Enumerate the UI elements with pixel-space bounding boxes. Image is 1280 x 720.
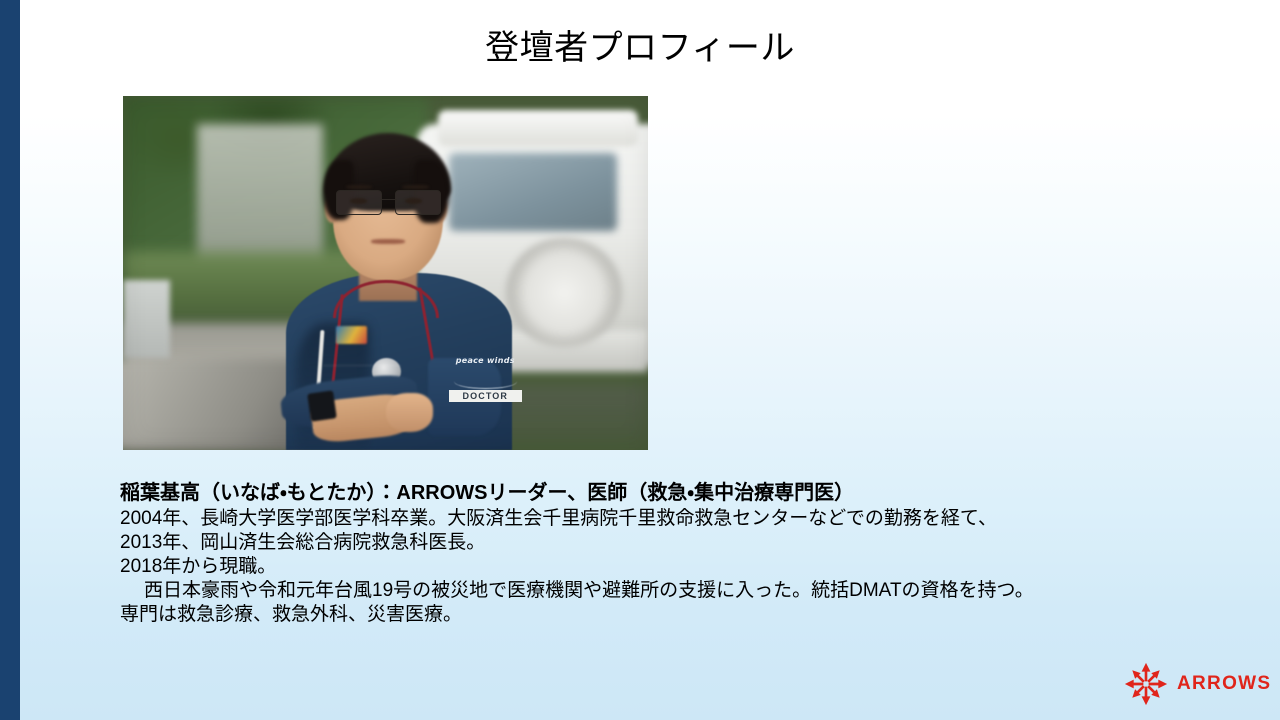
photo-peace-winds-logo: peace winds: [451, 356, 519, 365]
photo-subject-mouth: [371, 239, 405, 244]
page-title: 登壇者プロフィール: [60, 26, 1220, 70]
photo-doctor-patch: DOCTOR: [449, 390, 523, 402]
photo-subject-wristwatch: [308, 390, 338, 422]
bio-headline: 稲葉基高（いなば・もとたか）：ARROWSリーダー、医師（救急・集中治療専門医）: [120, 480, 1180, 507]
bio-line-3: 2018年から現職。: [120, 555, 1180, 579]
speaker-bio: 稲葉基高（いなば・もとたか）：ARROWSリーダー、医師（救急・集中治療専門医）…: [120, 480, 1180, 627]
arrows-logo-text: ARROWS: [1177, 673, 1271, 695]
photo-subject-hand: [386, 393, 433, 432]
photo-vehicle-roof: [438, 110, 638, 145]
photo-subject-badge: [336, 326, 368, 344]
speaker-photo: peace winds DOCTOR: [123, 96, 648, 450]
bio-line-2: 2013年、岡山済生会総合病院救急科医長。: [120, 531, 1180, 555]
photo-peace-winds-swoosh: [454, 374, 517, 389]
arrows-logo: ARROWS: [1124, 660, 1270, 708]
photo-subject-eye-left: [350, 198, 367, 204]
photo-ac-unit-background: [123, 280, 170, 358]
photo-subject-glasses-bridge: [380, 199, 397, 201]
photo-subject-eye-right: [405, 198, 422, 204]
bio-line-1: 2004年、長崎大学医学部医学科卒業。大阪済生会千里病院千里救命救急センターなど…: [120, 507, 1180, 531]
arrows-star-icon: [1124, 662, 1168, 706]
bio-line-4: 西日本豪雨や令和元年台風19号の被災地で医療機関や避難所の支援に入った。統括DM…: [120, 579, 1180, 603]
photo-vehicle-window: [449, 153, 617, 231]
bio-line-5: 専門は救急診療、救急外科、災害医療。: [120, 603, 1180, 627]
photo-scene: peace winds DOCTOR: [123, 96, 648, 450]
slide-profile: 登壇者プロフィール: [0, 0, 1280, 720]
left-accent-bar: [0, 0, 20, 720]
photo-vehicle-spare-tire: [506, 238, 622, 348]
